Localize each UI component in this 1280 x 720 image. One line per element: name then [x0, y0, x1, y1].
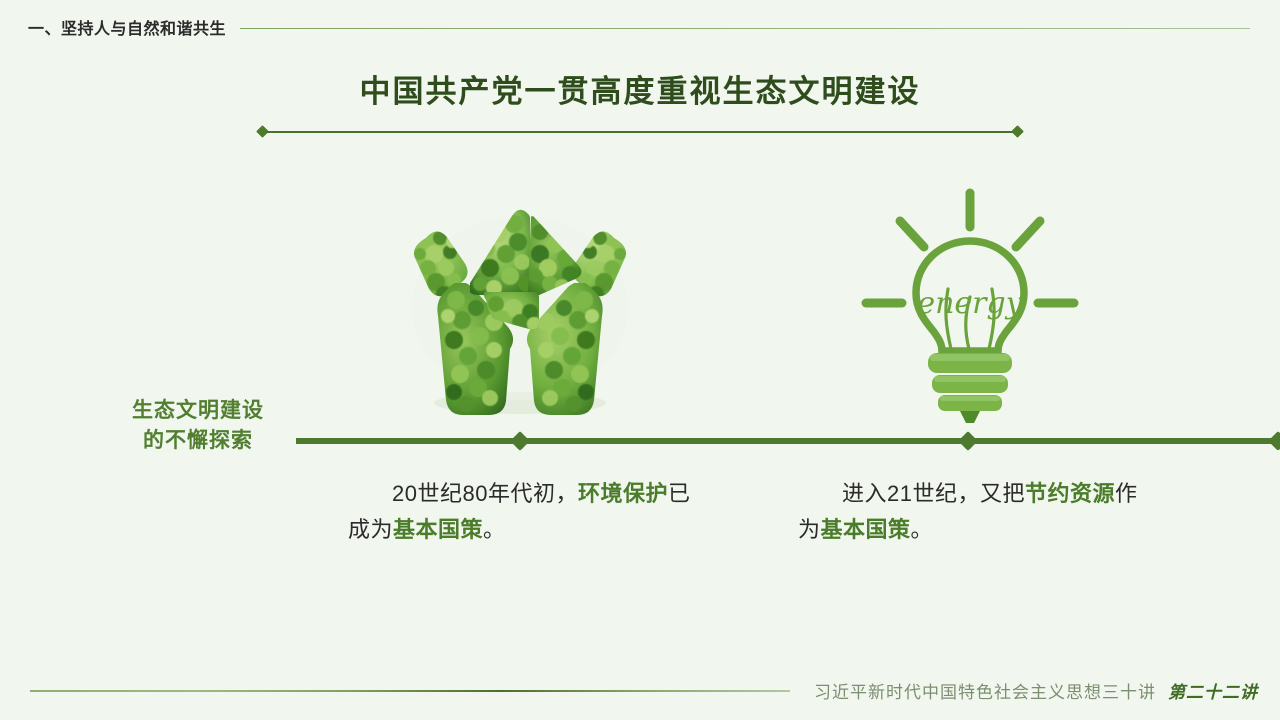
caption-text: 20世纪80年代初，	[392, 481, 578, 506]
title-underline-bar	[266, 131, 1014, 133]
side-label-line1: 生态文明建设	[132, 399, 264, 422]
caption-first-milestone: 20世纪80年代初，环境保护已成为基本国策。	[348, 476, 698, 548]
caption-highlight: 基本国策	[821, 517, 911, 542]
timeline-node-3	[1268, 431, 1280, 451]
footer-book-title: 习近平新时代中国特色社会主义思想三十讲	[814, 678, 1156, 703]
title-underline	[262, 131, 1018, 133]
column-second-milestone: energy 进入21世纪，又把节约资源作为基本国策。	[760, 180, 1180, 430]
section-header-label: 一、坚持人与自然和谐共生	[28, 15, 226, 39]
footer: 习近平新时代中国特色社会主义思想三十讲 第二十二讲	[814, 678, 1258, 703]
timeline-bar	[296, 438, 1280, 444]
hands-holding-trees-image	[310, 180, 730, 430]
caption-text: 。	[483, 517, 506, 542]
timeline-node-2	[958, 431, 978, 451]
slide-root: 一、坚持人与自然和谐共生 中国共产党一贯高度重视生态文明建设 生态文明建设 的不…	[0, 0, 1280, 720]
diamond-right-icon	[1011, 125, 1024, 138]
caption-highlight: 环境保护	[578, 481, 668, 506]
energy-lightbulb-image: energy	[760, 180, 1180, 430]
caption-text: 。	[911, 517, 934, 542]
bulb-base-icon	[928, 353, 1012, 423]
main-title-text: 中国共产党一贯高度重视生态文明建设	[0, 72, 1280, 112]
side-label: 生态文明建设 的不懈探索	[108, 396, 288, 456]
footer-lecture-number: 第二十二讲	[1168, 678, 1258, 703]
timeline-node-1	[510, 431, 530, 451]
section-header: 一、坚持人与自然和谐共生	[28, 15, 1250, 39]
caption-second-milestone: 进入21世纪，又把节约资源作为基本国策。	[798, 476, 1148, 548]
column-first-milestone: 20世纪80年代初，环境保护已成为基本国策。	[310, 180, 730, 430]
page-title: 中国共产党一贯高度重视生态文明建设	[0, 72, 1280, 112]
caption-text: 进入21世纪，又把	[842, 481, 1025, 506]
footer-divider	[30, 690, 790, 692]
section-header-divider	[240, 28, 1250, 29]
caption-highlight: 节约资源	[1025, 481, 1115, 506]
caption-highlight: 基本国策	[393, 517, 483, 542]
side-label-line2: 的不懈探索	[108, 426, 288, 456]
bulb-word-label: energy	[917, 286, 1023, 321]
